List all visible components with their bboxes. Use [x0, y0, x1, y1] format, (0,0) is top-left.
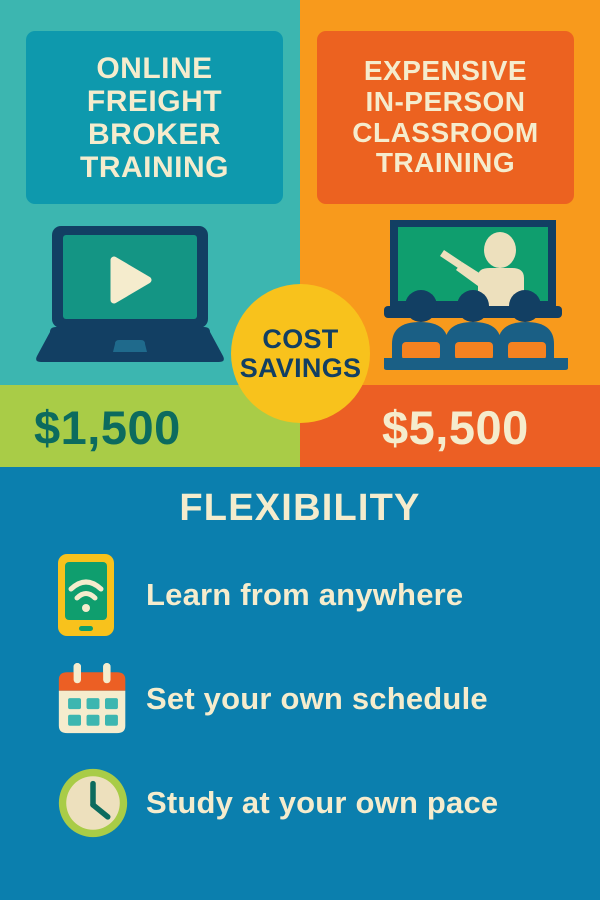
card-title-line: FREIGHT [87, 85, 222, 118]
flexibility-list: Learn from anywhere [0, 543, 600, 855]
online-training-title-card: ONLINE FREIGHT BROKER TRAINING [26, 31, 283, 204]
card-title-line: EXPENSIVE [364, 56, 527, 87]
mobile-phone-wifi-icon [57, 555, 129, 635]
cost-savings-badge: COST SAVINGS [231, 284, 370, 423]
card-title-line: IN-PERSON [365, 87, 525, 118]
list-item: Set your own schedule [0, 647, 600, 751]
list-item: Learn from anywhere [0, 543, 600, 647]
card-title-line: TRAINING [376, 148, 515, 179]
infographic-root: ONLINE FREIGHT BROKER TRAINING EXPENSIVE… [0, 0, 600, 900]
calendar-icon [57, 659, 129, 739]
list-item-label: Learn from anywhere [146, 577, 463, 613]
list-item: Study at your own pace [0, 751, 600, 855]
card-title-line: TRAINING [80, 151, 229, 184]
card-title-line: ONLINE [96, 52, 212, 85]
list-item-label: Set your own schedule [146, 681, 488, 717]
list-item-label: Study at your own pace [146, 785, 498, 821]
classroom-teacher-icon [378, 218, 574, 370]
cost-savings-line-2: SAVINGS [240, 354, 362, 382]
classroom-training-title-card: EXPENSIVE IN-PERSON CLASSROOM TRAINING [317, 31, 574, 204]
card-title-line: CLASSROOM [352, 118, 539, 149]
cost-savings-line-1: COST [262, 325, 338, 353]
card-title-line: BROKER [88, 118, 221, 151]
laptop-play-video-icon [30, 222, 230, 367]
flexibility-heading: FLEXIBILITY [0, 487, 600, 530]
clock-icon [57, 763, 129, 843]
